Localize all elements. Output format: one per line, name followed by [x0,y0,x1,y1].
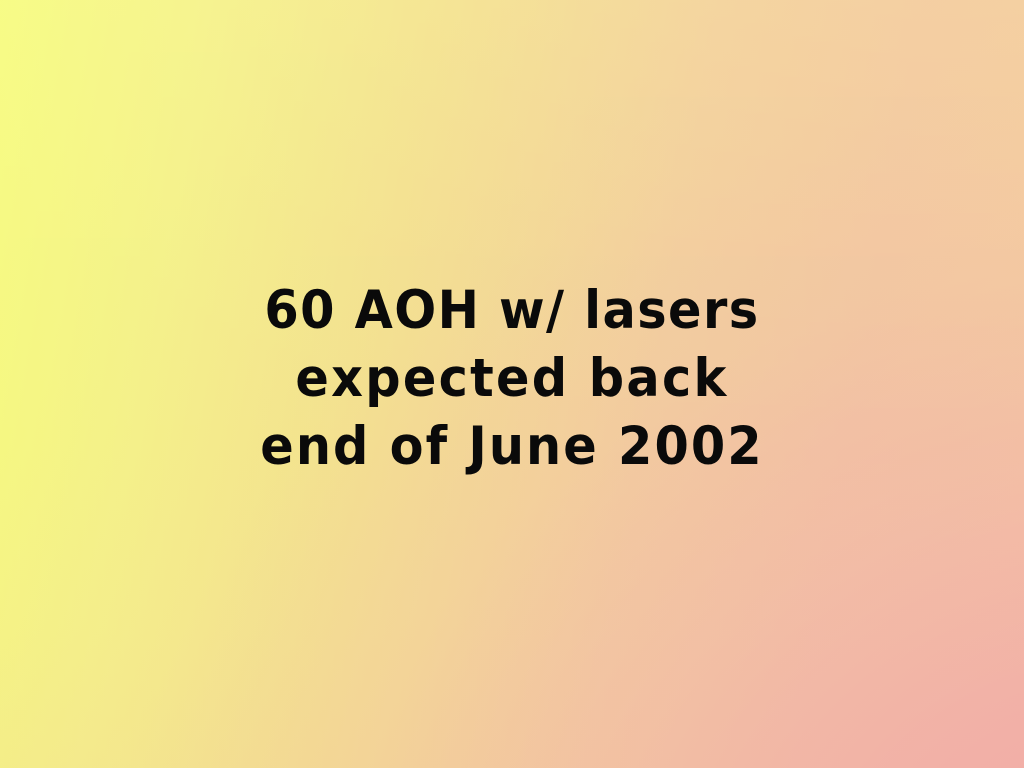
slide-text-block: 60 AOH w/ lasers expected back end of Ju… [0,277,1024,481]
slide-canvas: 60 AOH w/ lasers expected back end of Ju… [0,0,1024,768]
slide-text-line-2: expected back [0,345,1024,413]
slide-text-line-1: 60 AOH w/ lasers [0,277,1024,345]
slide-text-line-3: end of June 2002 [0,413,1024,481]
